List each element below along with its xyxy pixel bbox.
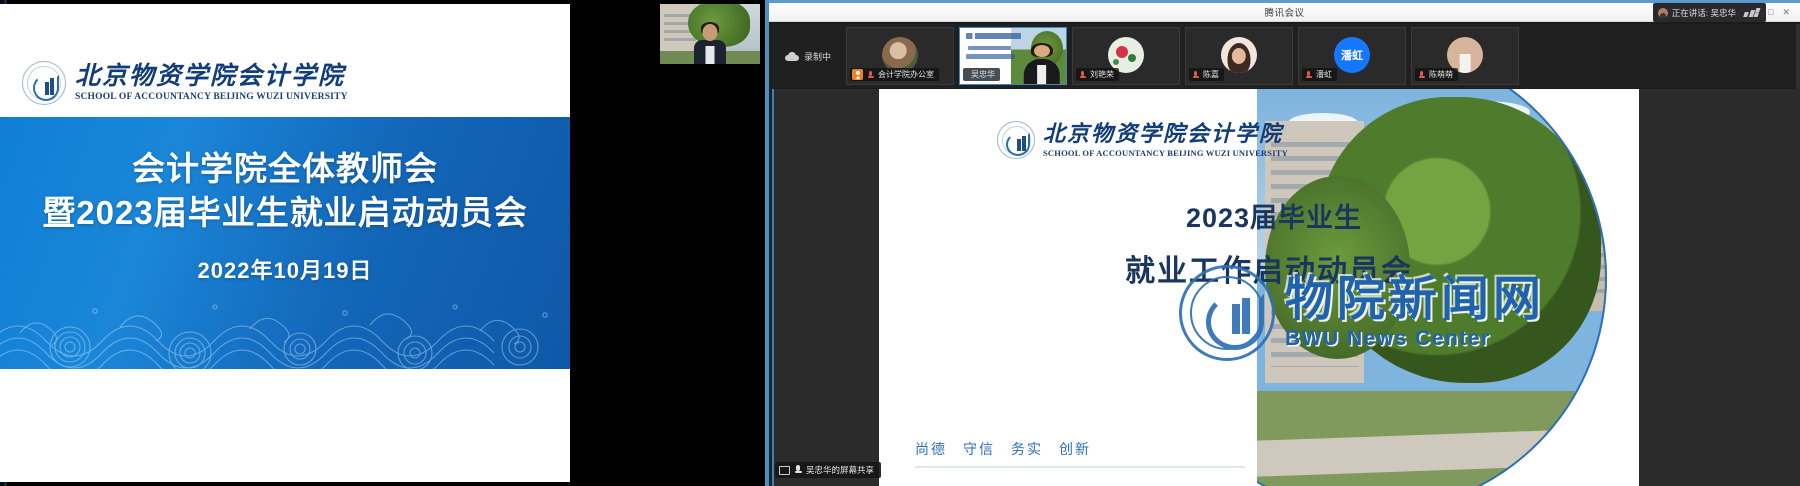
microphone-muted-icon (1417, 70, 1426, 79)
webcam-person-head (703, 24, 718, 41)
close-button[interactable]: ✕ (1782, 8, 1790, 17)
watermark-title-cn: 物院新闻网 (1285, 276, 1545, 324)
avatar (1221, 37, 1257, 73)
participant-tile-active[interactable]: 吴忠华 (959, 27, 1067, 85)
share-owner-label: 吴忠华的屏幕共享 (806, 464, 874, 476)
slide-title-line1: 会计学院全体教师会 (0, 147, 570, 191)
motto-word: 守信 (963, 439, 995, 459)
participant-tile[interactable]: 潘虹 潘虹 (1298, 27, 1406, 85)
seal-bar-b (50, 78, 54, 95)
school-name-en: SCHOOL OF ACCOUNTANCY BEIJING WUZI UNIVE… (75, 92, 348, 102)
monitor-icon (779, 466, 790, 475)
participant-tile[interactable]: 陈嘉 (1185, 27, 1293, 85)
school-logo-text: 北京物资学院会计学院 SCHOOL OF ACCOUNTANCY BEIJING… (75, 64, 348, 102)
window-controls[interactable]: – □ ✕ (1754, 3, 1796, 22)
microphone-muted-icon (1304, 70, 1313, 79)
microphone-muted-icon (1078, 70, 1087, 79)
microphone-muted-icon (866, 70, 875, 79)
motto-underline (915, 466, 1245, 468)
thumb-logo-bar (966, 33, 1021, 39)
slide-canvas: 北京物资学院会计学院 SCHOOL OF ACCOUNTANCY BEIJING… (0, 4, 570, 482)
thumb-presenter (1019, 43, 1064, 84)
microphone-icon (794, 465, 802, 476)
shared-slide-heading-1: 2023届毕业生 (879, 196, 1639, 235)
news-watermark: 物院新闻网 BWU News Center (1179, 265, 1545, 361)
school-logo-text: 北京物资学院会计学院 SCHOOL OF ACCOUNTANCY BEIJING… (1043, 122, 1288, 157)
participant-name-chip: 会计学院办公室 (850, 68, 939, 81)
microphone-muted-icon (1191, 70, 1200, 79)
avatar-initials: 潘虹 (1334, 37, 1370, 73)
shared-slide-motto: 尚德 守信 务实 创新 (915, 439, 1091, 459)
participant-name: 吴忠华 (971, 69, 995, 80)
watermark-title-en: BWU News Center (1285, 327, 1545, 351)
tencent-meeting-window: 腾讯会议 正在讲话: 吴忠华 – □ ✕ 录制中 会计 (765, 0, 1800, 486)
participant-name-chip: 陈萌萌 (1415, 68, 1458, 81)
motto-word: 务实 (1011, 439, 1043, 459)
thumb-title-2 (966, 54, 1015, 59)
cloud-recording-icon (785, 52, 799, 61)
participant-name-chip: 潘虹 (1302, 68, 1337, 81)
webcam-person (692, 24, 728, 64)
presenter-webcam-pip[interactable] (660, 4, 760, 64)
seal-bar-a (45, 82, 49, 95)
screenshot-root: 北京物资学院会计学院 SCHOOL OF ACCOUNTANCY BEIJING… (0, 0, 1800, 486)
participant-tile[interactable]: 陈萌萌 (1411, 27, 1519, 85)
participant-name: 陈嘉 (1203, 69, 1219, 80)
active-speaker-label: 正在讲话: 吴忠华 (1672, 7, 1736, 19)
speaker-avatar (1658, 8, 1668, 18)
university-seal-icon (1179, 265, 1275, 361)
share-owner-chip: 吴忠华的屏幕共享 (775, 462, 881, 478)
participant-name: 会计学院办公室 (878, 69, 934, 80)
participant-name-chip: 吴忠华 (963, 68, 1000, 81)
seal-bar-b (1022, 136, 1026, 151)
slide-title: 会计学院全体教师会 暨2023届毕业生就业启动动员会 (0, 117, 570, 235)
active-speaker-indicator: 正在讲话: 吴忠华 (1653, 3, 1766, 22)
university-seal-icon (22, 61, 66, 105)
participant-filmstrip[interactable]: 录制中 会计学院办公室 (769, 24, 1800, 88)
host-badge-icon (852, 69, 863, 80)
maximize-button[interactable]: □ (1768, 8, 1773, 17)
slide-title-line2: 暨2023届毕业生就业启动动员会 (0, 191, 570, 235)
participant-name: 刘艳荣 (1090, 69, 1114, 80)
school-logo-lockup: 北京物资学院会计学院 SCHOOL OF ACCOUNTANCY BEIJING… (997, 121, 1288, 159)
window-title-bar[interactable]: 腾讯会议 (769, 3, 1800, 22)
seal-bar-a (1017, 139, 1021, 151)
minimize-button[interactable]: – (1754, 8, 1759, 17)
slide-header-band: 北京物资学院会计学院 SCHOOL OF ACCOUNTANCY BEIJING… (0, 4, 570, 117)
school-name-en: SCHOOL OF ACCOUNTANCY BEIJING WUZI UNIVE… (1043, 148, 1288, 158)
shared-screen-stage[interactable]: 北京物资学院会计学院 SCHOOL OF ACCOUNTANCY BEIJING… (769, 89, 1800, 486)
participant-name-chip: 刘艳荣 (1076, 68, 1119, 81)
participant-tile[interactable]: 会计学院办公室 (846, 27, 954, 85)
stage-border-accent (772, 89, 774, 486)
motto-word: 创新 (1059, 439, 1091, 459)
recording-label: 录制中 (804, 50, 831, 63)
watermark-text: 物院新闻网 BWU News Center (1285, 276, 1545, 351)
participant-name: 潘虹 (1316, 69, 1332, 80)
slide-date: 2022年10月19日 (0, 253, 570, 285)
participant-name: 陈萌萌 (1429, 69, 1453, 80)
slide-title-band: 会计学院全体教师会 暨2023届毕业生就业启动动员会 2022年10月19日 (0, 117, 570, 369)
participant-name-chip: 陈嘉 (1189, 68, 1224, 81)
recording-indicator: 录制中 (775, 50, 841, 63)
presentation-slide-capture: 北京物资学院会计学院 SCHOOL OF ACCOUNTANCY BEIJING… (0, 0, 765, 486)
thumb-title-1 (968, 46, 1010, 50)
school-name-cn: 北京物资学院会计学院 (1043, 122, 1288, 145)
university-seal-icon (997, 121, 1035, 159)
school-name-cn: 北京物资学院会计学院 (75, 64, 348, 90)
webcam-person-shirt (706, 46, 715, 64)
shared-slide-canvas: 北京物资学院会计学院 SCHOOL OF ACCOUNTANCY BEIJING… (879, 89, 1639, 486)
app-title: 腾讯会议 (1264, 5, 1304, 19)
slide-footer-band (0, 369, 570, 482)
school-logo-lockup: 北京物资学院会计学院 SCHOOL OF ACCOUNTANCY BEIJING… (22, 61, 348, 105)
photo-vehicle (1555, 422, 1593, 438)
participant-tile[interactable]: 刘艳荣 (1072, 27, 1180, 85)
thumb-presenter-shirt (1037, 65, 1047, 84)
motto-word: 尚德 (915, 439, 947, 459)
